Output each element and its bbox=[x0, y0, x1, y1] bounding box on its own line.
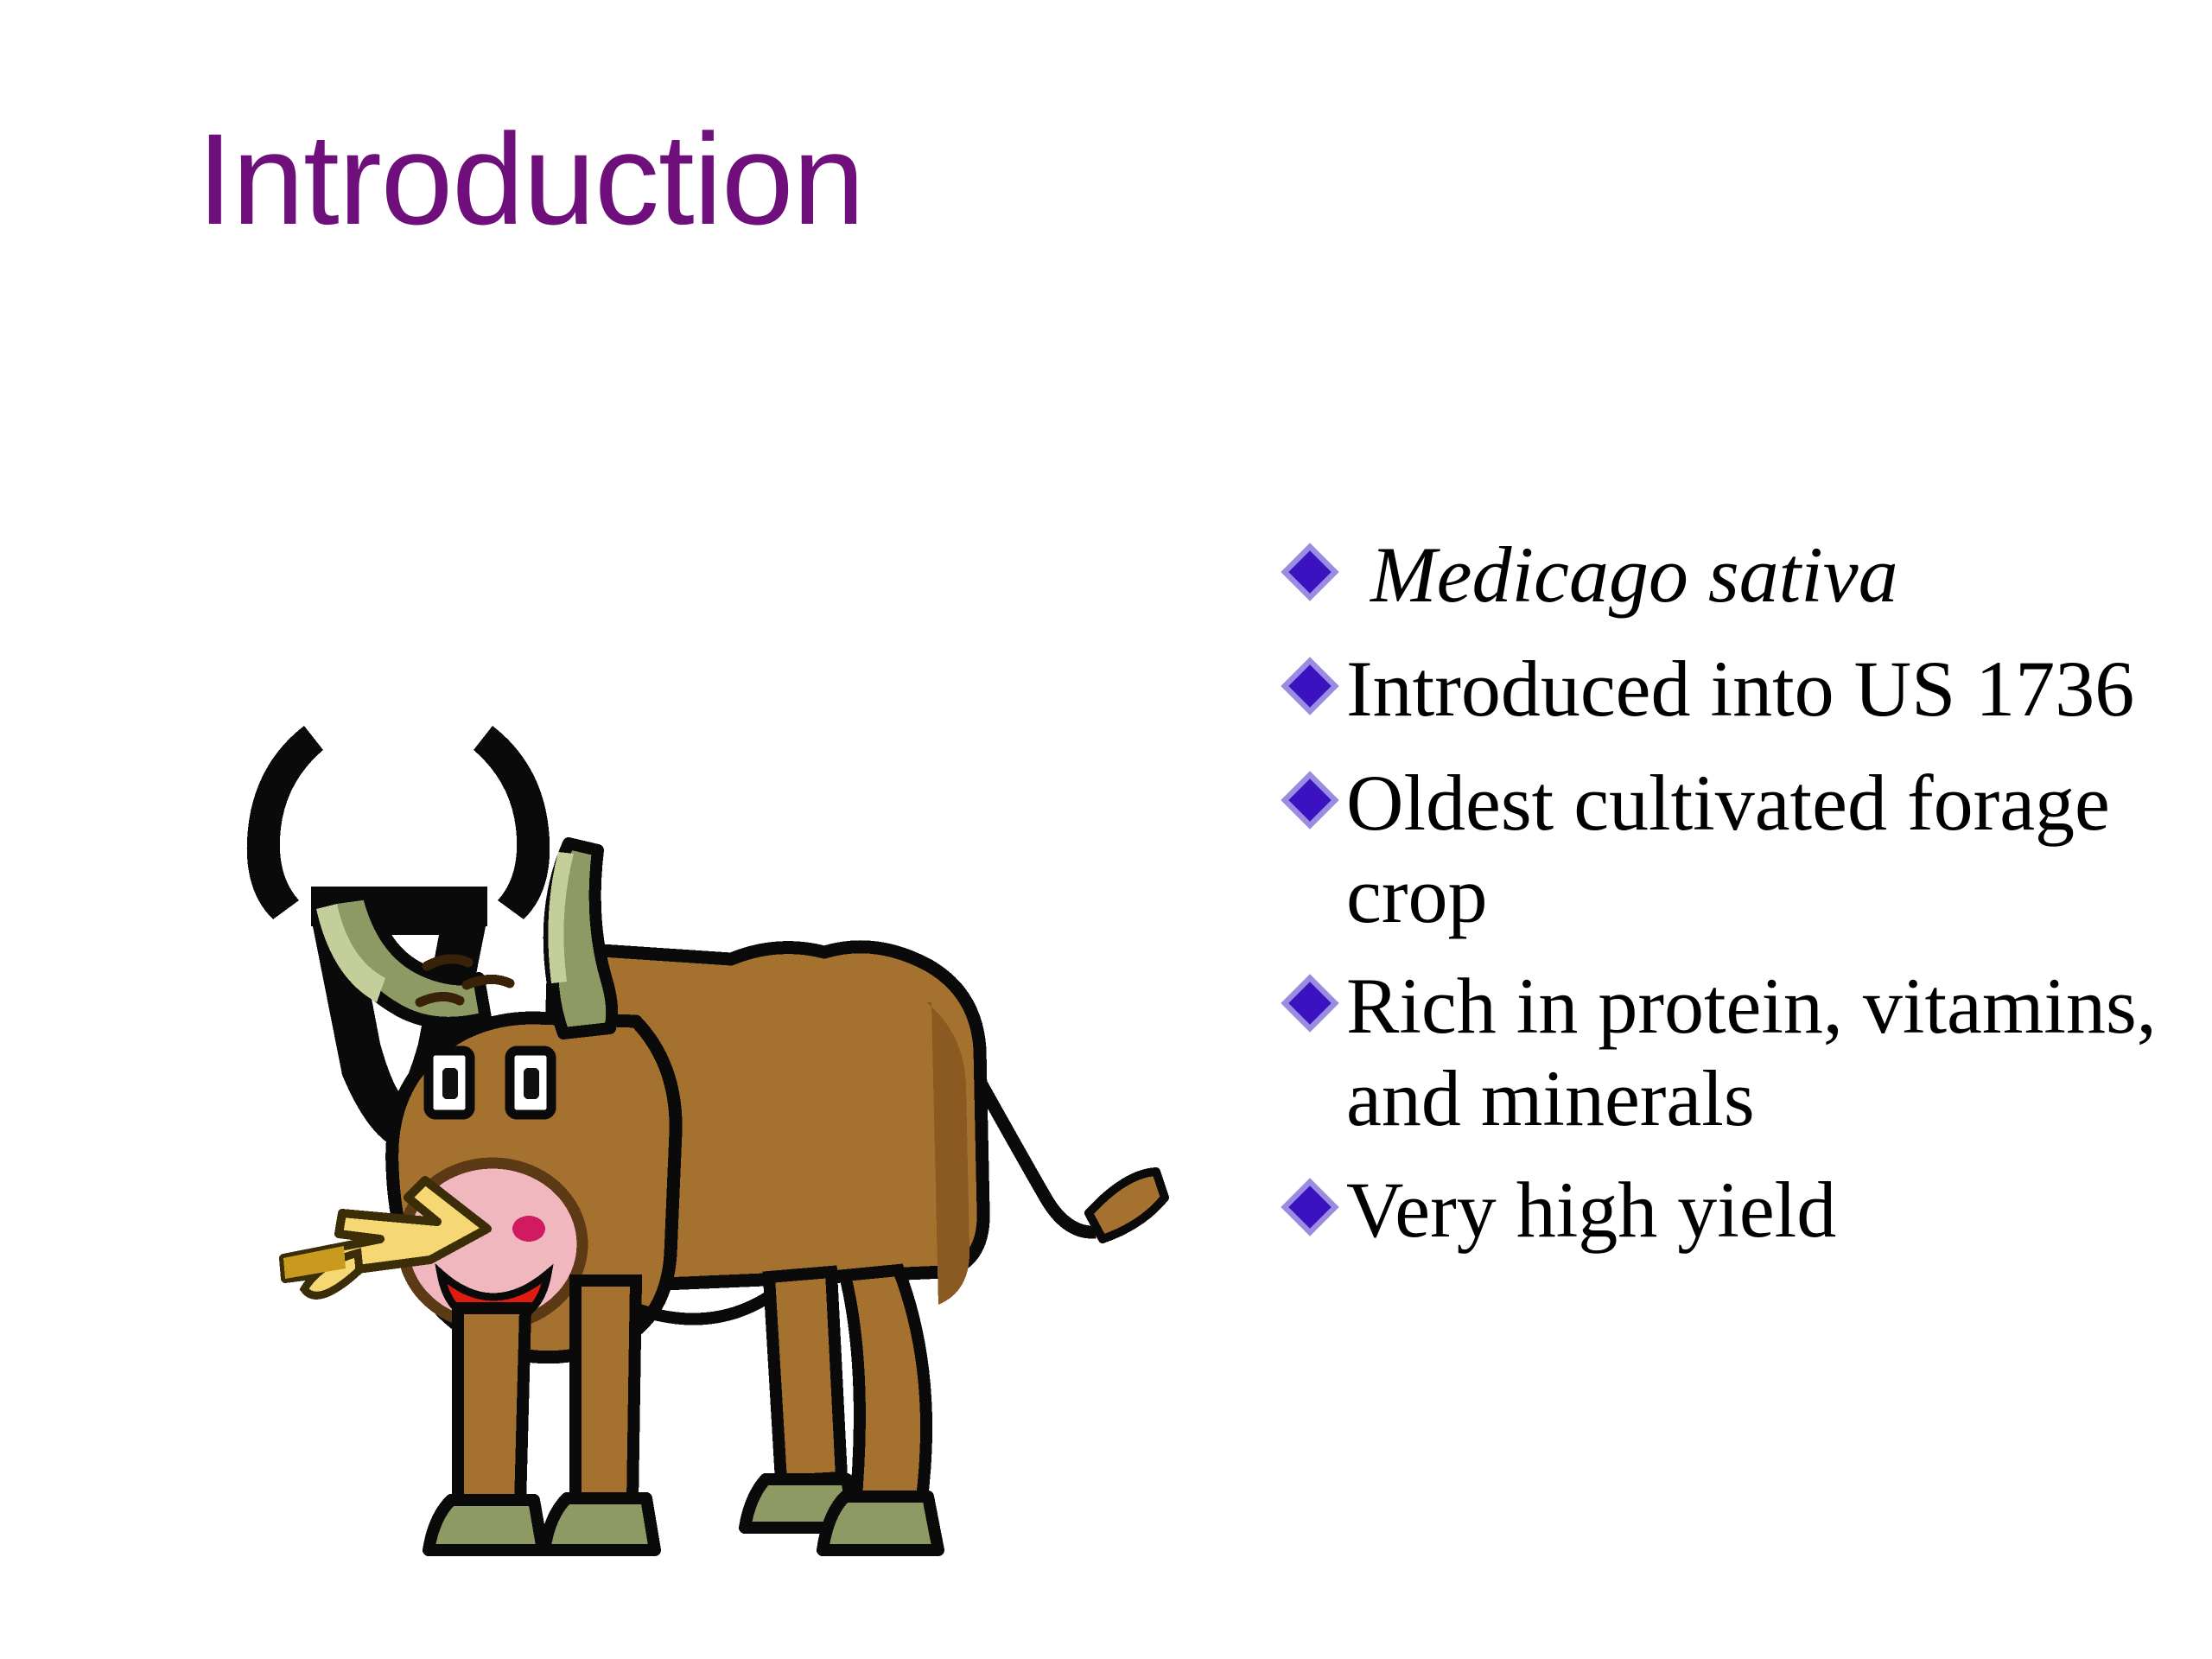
list-item: Very high yield bbox=[1279, 1164, 2212, 1259]
presentation-slide: Introduction bbox=[0, 0, 2212, 1659]
diamond-bullet-icon bbox=[1279, 769, 1346, 852]
diamond-bullet-icon bbox=[1279, 541, 1346, 624]
list-item: Medicago sativa bbox=[1279, 529, 2212, 624]
diamond-bullet-icon bbox=[1279, 972, 1346, 1055]
list-item-label: Medicago sativa bbox=[1346, 529, 2212, 621]
list-item: Oldest cultivated forage crop bbox=[1279, 757, 2212, 941]
diamond-bullet-icon bbox=[1279, 1176, 1346, 1259]
list-item: Rich in protein, vitamins, and minerals bbox=[1279, 960, 2212, 1144]
list-item-label: Very high yield bbox=[1346, 1164, 2212, 1256]
bullet-list: Medicago sativa Introduced into US 1736 … bbox=[1279, 529, 2212, 1278]
diamond-bullet-icon bbox=[1279, 655, 1346, 738]
page-title: Introduction bbox=[197, 114, 864, 244]
cow-with-hay-clipart bbox=[207, 717, 1227, 1581]
list-item-label: Oldest cultivated forage crop bbox=[1346, 757, 2212, 941]
list-item-label: Rich in protein, vitamins, and minerals bbox=[1346, 960, 2212, 1144]
list-item: Introduced into US 1736 bbox=[1279, 643, 2212, 738]
list-item-label: Introduced into US 1736 bbox=[1346, 643, 2212, 735]
